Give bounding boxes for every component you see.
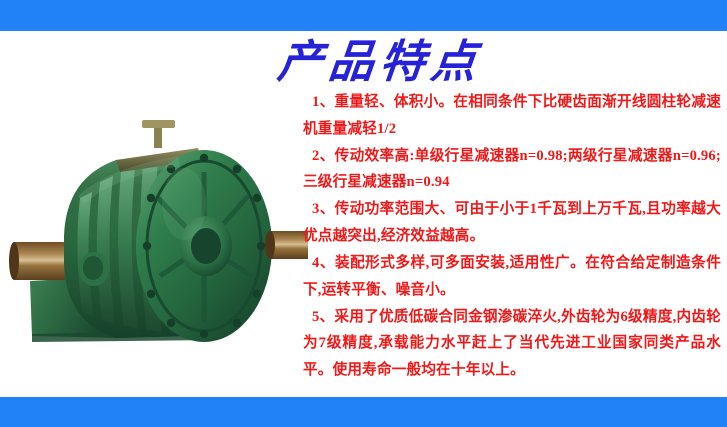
feature-list: 1、重量轻、体积小。在相同条件下比硬齿面渐开线圆柱轮减速机重量减轻1/2 2、传… bbox=[303, 89, 721, 384]
top-blue-bar bbox=[0, 0, 727, 31]
breather-cap bbox=[142, 120, 175, 128]
output-shaft-collar bbox=[265, 231, 275, 259]
planetary-gear-reducer-icon bbox=[8, 86, 308, 346]
feature-item-4: 4、装配形式多样,可多面安装,适用性广。在符合给定制造条件下,运转平衡、噪音小。 bbox=[303, 250, 721, 303]
flange-bolt bbox=[257, 242, 265, 250]
feature-item-3: 3、传动功率范围大、可由于小于1千瓦到上万千瓦,且功率越大优点越突出,经济效益越… bbox=[303, 196, 721, 249]
feature-item-1: 1、重量轻、体积小。在相同条件下比硬齿面渐开线圆柱轮减速机重量减轻1/2 bbox=[303, 89, 721, 142]
breather-stem bbox=[154, 126, 162, 148]
inspection-boss-inner bbox=[83, 256, 103, 280]
flange-bolt bbox=[233, 319, 241, 327]
input-shaft bbox=[12, 242, 66, 280]
flange-bolt bbox=[147, 194, 155, 202]
flange-bolt bbox=[200, 330, 208, 338]
product-feature-page: 产品特点 1、重量轻、体积小。在相同条件下比硬齿面渐开线圆柱轮减速机重量减轻1/… bbox=[0, 0, 727, 427]
feature-item-2: 2、传动效率高:单级行星减速器n=0.98;两级行星减速器n=0.96;三级行星… bbox=[303, 143, 721, 196]
page-title: 产品特点 bbox=[273, 36, 698, 88]
flange-highlight bbox=[162, 168, 206, 240]
flange-bolt bbox=[233, 165, 241, 173]
feature-text-column: 产品特点 1、重量轻、体积小。在相同条件下比硬齿面渐开线圆柱轮减速机重量减轻1/… bbox=[303, 32, 723, 394]
flange-bolt bbox=[253, 194, 261, 202]
flange-bolt bbox=[200, 154, 208, 162]
flange-bolt bbox=[167, 319, 175, 327]
feature-item-5: 5、采用了优质低碳合同金钢渗碳淬火,外齿轮为6级精度,内齿轮为7级精度,承载能力… bbox=[303, 304, 721, 384]
input-shaft-end bbox=[9, 242, 19, 280]
bottom-blue-bar bbox=[0, 397, 727, 427]
flange-bolt bbox=[253, 290, 261, 298]
product-photo bbox=[8, 86, 308, 346]
flange-bolt bbox=[143, 242, 151, 250]
flange-bolt bbox=[147, 290, 155, 298]
